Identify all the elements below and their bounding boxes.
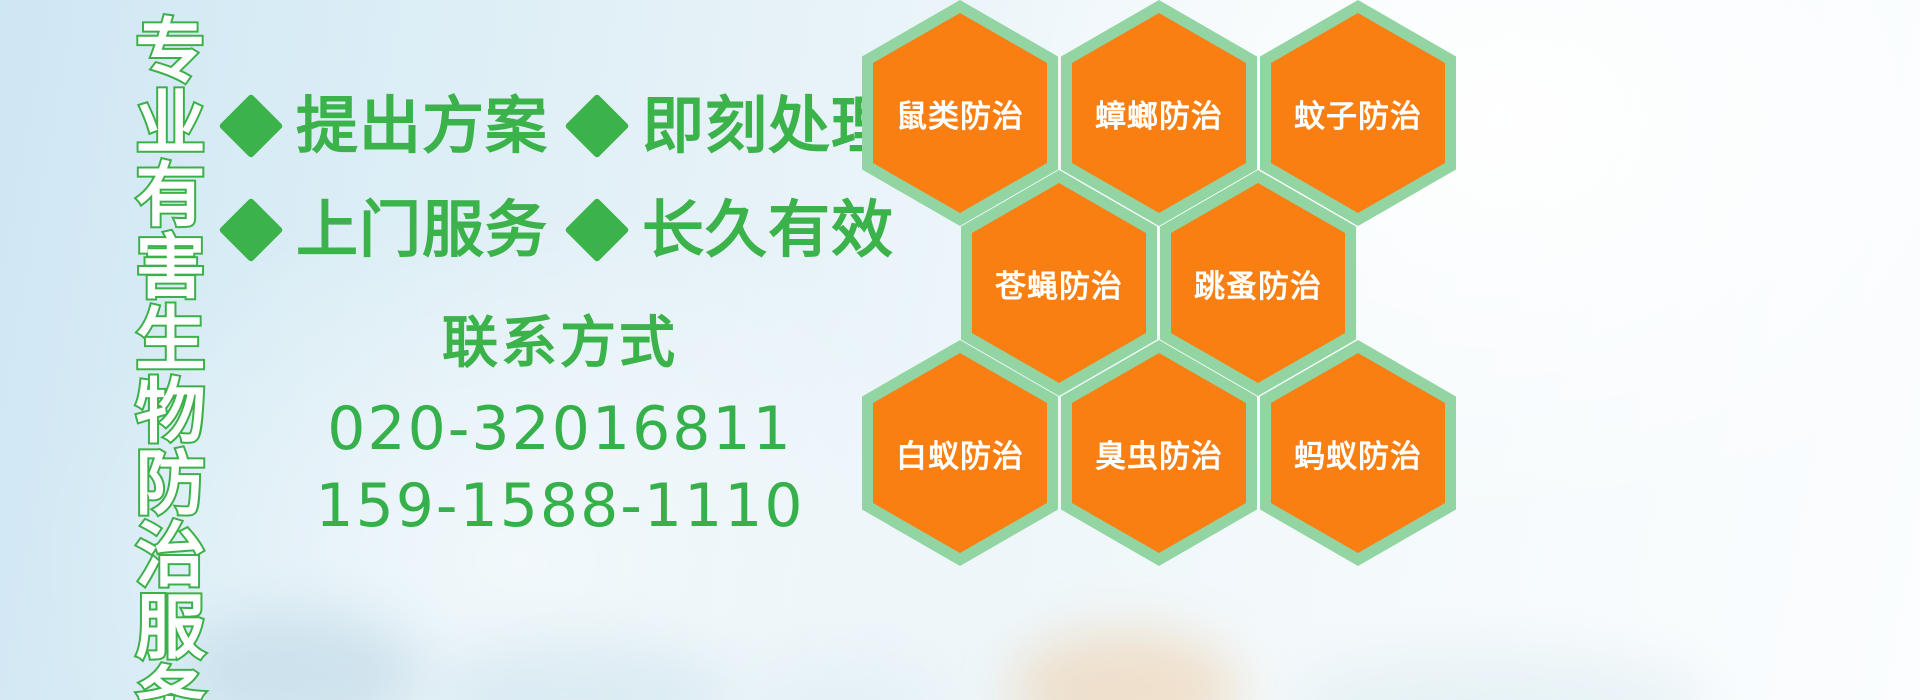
feature-label: 上门服务 (296, 199, 548, 261)
feature-list: 提出方案 即刻处理 上门服务 长久有效 (228, 74, 868, 282)
service-label: 鼠类防治 (896, 91, 1024, 136)
diamond-icon (564, 93, 629, 158)
diamond-icon (218, 197, 283, 262)
feature-item-1: 提出方案 (228, 95, 548, 157)
feature-row: 上门服务 长久有效 (228, 178, 868, 282)
background-blur-blob (1010, 630, 1240, 700)
hex-inner: 跳蚤防治 (1171, 183, 1345, 383)
service-label: 蟑螂防治 (1095, 91, 1223, 136)
diamond-icon (218, 93, 283, 158)
phone-number-landline[interactable]: 020-32016811 (300, 391, 820, 468)
background-blur-blob (1290, 650, 1710, 700)
hex-inner: 苍蝇防治 (972, 183, 1146, 383)
feature-item-2: 即刻处理 (574, 95, 894, 157)
background-blur-blob (180, 612, 420, 700)
feature-row: 提出方案 即刻处理 (228, 74, 868, 178)
background-blur-blob (430, 640, 730, 700)
hex-inner: 蟑螂防治 (1072, 13, 1246, 213)
vertical-headline: 专业有害生物防治服务 (104, 14, 200, 700)
feature-label: 提出方案 (296, 95, 548, 157)
service-label: 蚊子防治 (1294, 91, 1422, 136)
service-label: 苍蝇防治 (995, 261, 1123, 306)
feature-item-4: 长久有效 (574, 199, 894, 261)
hex-inner: 臭虫防治 (1072, 353, 1246, 553)
background-blur-blob (740, 660, 940, 700)
hex-inner: 蚊子防治 (1271, 13, 1445, 213)
promo-banner: 专业有害生物防治服务 提出方案 即刻处理 上门服务 长久有效 联系方式 0 (0, 0, 1920, 700)
contact-block: 联系方式 020-32016811 159-1588-1110 (300, 310, 820, 545)
service-label: 臭虫防治 (1095, 431, 1223, 476)
hex-inner: 蚂蚁防治 (1271, 353, 1445, 553)
service-label: 跳蚤防治 (1194, 261, 1322, 306)
contact-label: 联系方式 (300, 310, 820, 377)
hex-inner: 白蚁防治 (873, 353, 1047, 553)
service-label: 白蚁防治 (896, 431, 1024, 476)
phone-number-mobile[interactable]: 159-1588-1110 (300, 468, 820, 545)
feature-item-3: 上门服务 (228, 199, 548, 261)
hex-inner: 鼠类防治 (873, 13, 1047, 213)
service-label: 蚂蚁防治 (1294, 431, 1422, 476)
diamond-icon (564, 197, 629, 262)
service-honeycomb: 鼠类防治 蟑螂防治 蚊子防治 苍蝇防治 跳蚤防治 白蚁防 (856, 0, 1476, 554)
